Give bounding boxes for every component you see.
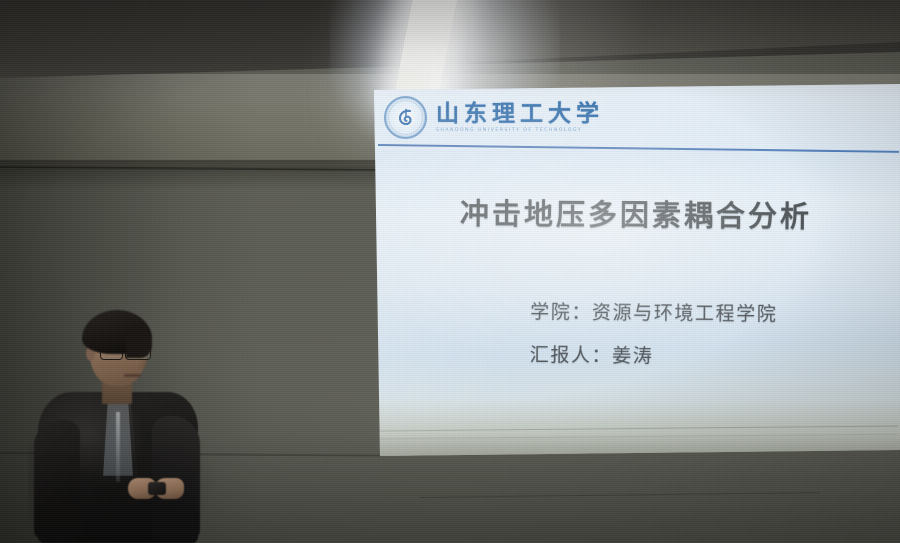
projection-screen[interactable]: 山东理工大学 SHANDONG UNIVERSITY OF TECHNOLOGY… (372, 84, 900, 456)
presenter (24, 300, 224, 543)
slide-header-divider (378, 144, 899, 153)
screen-hairline (378, 426, 898, 432)
slide-header: 山东理工大学 SHANDONG UNIVERSITY OF TECHNOLOGY (372, 84, 900, 150)
university-name-en: SHANDONG UNIVERSITY OF TECHNOLOGY (436, 129, 604, 134)
university-name-cn: 山东理工大学 (436, 102, 604, 125)
slide-line-presenter: 汇报人：姜涛 (530, 340, 777, 369)
slide-title: 冲击地压多因素耦合分析 (372, 190, 900, 237)
presenter-mouth (124, 374, 141, 377)
presenter-hair (82, 310, 152, 354)
university-logo: 山东理工大学 SHANDONG UNIVERSITY OF TECHNOLOGY (384, 96, 604, 139)
emblem-swirl-icon (394, 106, 418, 130)
lecture-hall-photo: 山东理工大学 SHANDONG UNIVERSITY OF TECHNOLOGY… (0, 0, 900, 543)
screen-hairline (380, 434, 898, 440)
slide-line-department: 学院：资源与环境工程学院 (530, 297, 777, 326)
presenter-hands (128, 476, 184, 502)
presenter-jacket-zipper (116, 412, 120, 482)
university-emblem-icon (384, 96, 427, 139)
slide-subtitle-block: 学院：资源与环境工程学院 汇报人：姜涛 (530, 297, 778, 369)
university-name-block: 山东理工大学 SHANDONG UNIVERSITY OF TECHNOLOGY (436, 102, 604, 134)
presentation-clicker-icon (148, 482, 166, 495)
